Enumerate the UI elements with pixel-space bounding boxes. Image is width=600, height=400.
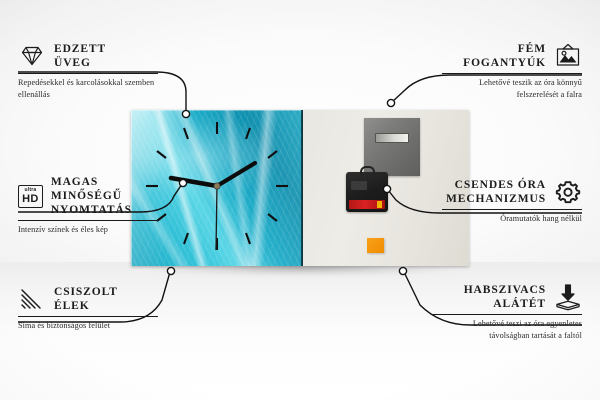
- mechanism-slot: [351, 181, 367, 190]
- feature-head: EDZETT ÜVEG: [18, 42, 158, 70]
- feature-polished-edges[interactable]: CSISZOLT ÉLEK Sima és biztonságos felüle…: [18, 285, 158, 332]
- ultra-hd-small-label: ultra: [24, 188, 36, 193]
- feature-silent-mechanism[interactable]: CSENDES ÓRA MECHANIZMUS Óramutatók hang …: [442, 178, 582, 225]
- feature-divider: [18, 73, 158, 74]
- hour-hand: [171, 178, 217, 186]
- feature-description: Repedésekkel és karcolásokkal szemben el…: [18, 77, 158, 100]
- feature-head: FÉM FOGANTYÚK: [442, 42, 582, 70]
- polished-edge-icon: [18, 287, 46, 311]
- feature-description: Lehetővé teszik az óra könnyű felszerelé…: [442, 77, 582, 100]
- feature-head: HABSZIVACS ALÁTÉT: [432, 283, 582, 311]
- gear-icon: [554, 179, 582, 205]
- feature-divider: [18, 316, 158, 317]
- feature-divider: [442, 209, 582, 210]
- feature-title: FÉM FOGANTYÚK: [463, 42, 546, 70]
- feature-title: MAGAS MINŐSÉGŰ NYOMTATÁS: [51, 175, 158, 217]
- feature-head: ultra HD MAGAS MINŐSÉGŰ NYOMTATÁS: [18, 175, 158, 217]
- feature-metal-handles[interactable]: FÉM FOGANTYÚK Lehetővé teszik az óra kön…: [442, 42, 582, 100]
- feature-head: CSENDES ÓRA MECHANIZMUS: [442, 178, 582, 206]
- feature-description: Intenzív színek és éles kép: [18, 224, 158, 236]
- feature-description: Sima és biztonságos felület: [18, 320, 158, 332]
- ultra-hd-main-label: HD: [22, 194, 39, 205]
- feature-title: CSENDES ÓRA MECHANIZMUS: [446, 178, 546, 206]
- feature-description: Óramutatók hang nélkül: [442, 213, 582, 225]
- battery: [349, 200, 385, 209]
- clock-mechanism-box: [346, 172, 388, 212]
- feature-divider: [432, 314, 582, 315]
- feature-title: CSISZOLT ÉLEK: [54, 285, 118, 313]
- feature-description: Lehetővé teszi az óra egyenletes távolsá…: [432, 318, 582, 341]
- feature-high-quality-print[interactable]: ultra HD MAGAS MINŐSÉGŰ NYOMTATÁS Intenz…: [18, 175, 158, 236]
- connector-dot-handles: [387, 99, 394, 106]
- feature-title: HABSZIVACS ALÁTÉT: [464, 283, 546, 311]
- arrow-onto-pad-icon: [554, 283, 582, 311]
- product-infographic: EDZETT ÜVEG Repedésekkel és karcolásokka…: [0, 0, 600, 400]
- feature-divider: [442, 73, 582, 74]
- feature-foam-pad[interactable]: HABSZIVACS ALÁTÉT Lehetővé teszi az óra …: [432, 283, 582, 341]
- ultra-hd-icon: ultra HD: [18, 185, 43, 208]
- feature-head: CSISZOLT ÉLEK: [18, 285, 158, 313]
- foam-pad-sample: [367, 238, 384, 253]
- hanger-loop-icon: [360, 166, 375, 175]
- diamond-icon: [18, 44, 46, 68]
- minute-hand: [217, 163, 255, 186]
- product-image: [131, 110, 469, 268]
- picture-frame-hanger-icon: [554, 43, 582, 69]
- feature-tempered-glass[interactable]: EDZETT ÜVEG Repedésekkel és karcolásokka…: [18, 42, 158, 100]
- feature-title: EDZETT ÜVEG: [54, 42, 106, 70]
- feature-divider: [18, 220, 158, 221]
- clock-center-cap: [214, 183, 220, 189]
